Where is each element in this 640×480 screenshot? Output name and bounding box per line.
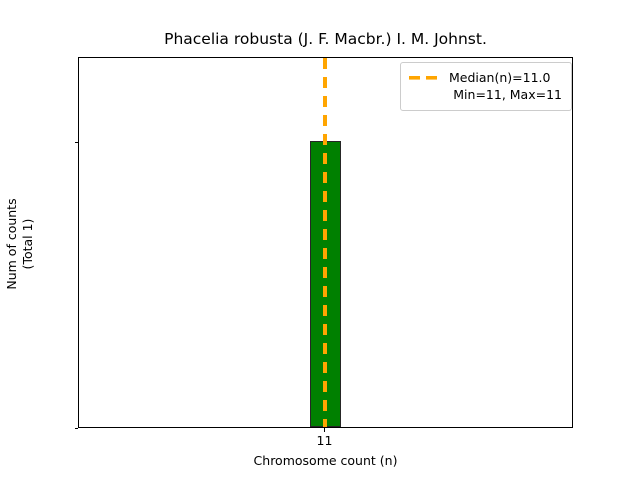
median-line (323, 58, 327, 428)
chart-figure: Phacelia robusta (J. F. Macbr.) I. M. Jo… (0, 0, 640, 480)
x-tick-label-11: 11 (317, 434, 333, 448)
x-tick-mark-11 (324, 428, 325, 432)
y-axis-label-wrapper: Num of counts (Total 1) (0, 0, 40, 480)
x-axis-label: Chromosome count (n) (78, 453, 573, 468)
legend-label-minmax: Min=11, Max=11 (449, 86, 563, 103)
legend-text-block: Median(n)=11.0 Min=11, Max=11 (449, 69, 563, 103)
chart-title: Phacelia robusta (J. F. Macbr.) I. M. Jo… (78, 30, 573, 48)
plot-area (78, 57, 573, 428)
y-axis-label: Num of counts (Total 1) (4, 37, 36, 451)
legend-entry-median: Median(n)=11.0 Min=11, Max=11 (409, 69, 563, 103)
legend-label-median: Median(n)=11.0 (449, 70, 550, 85)
legend[interactable]: Median(n)=11.0 Min=11, Max=11 (400, 62, 572, 111)
dashed-line-swatch-icon (409, 71, 441, 85)
